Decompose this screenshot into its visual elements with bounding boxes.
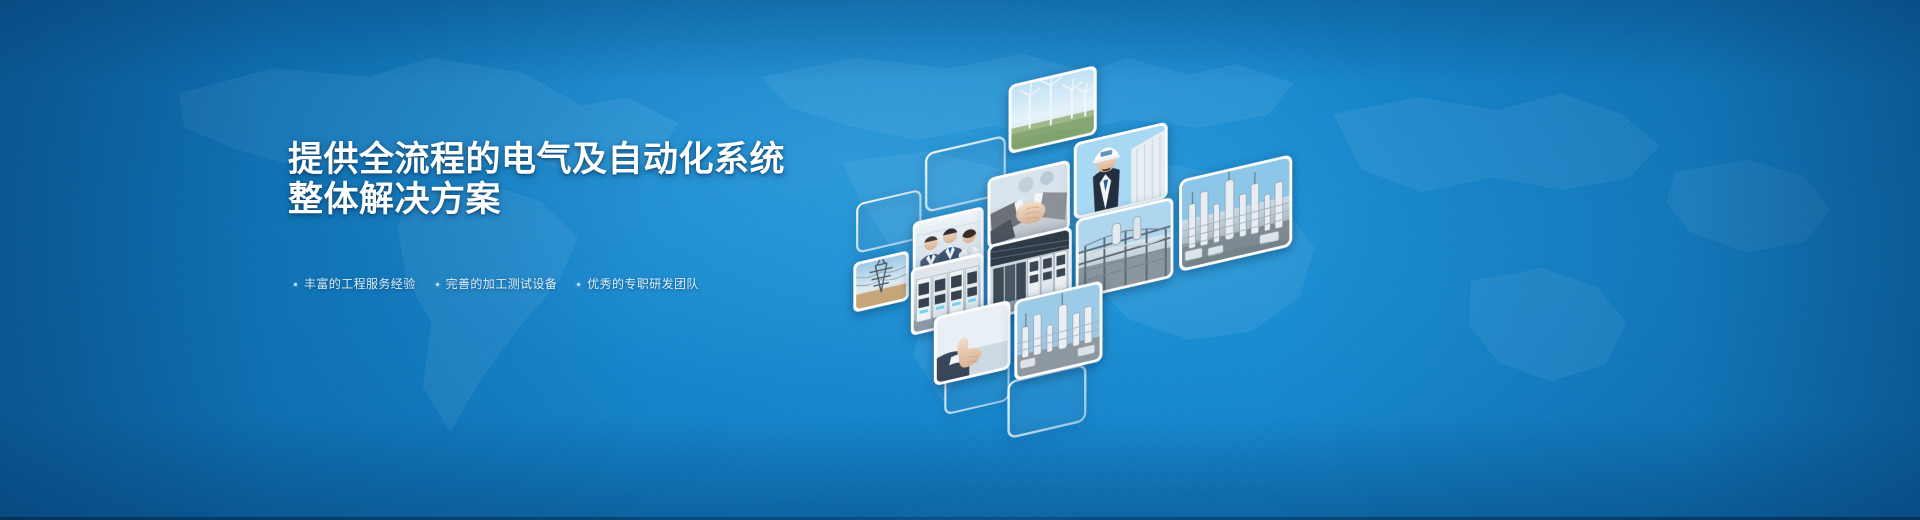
page-title: 提供全流程的电气及自动化系统 整体解决方案 bbox=[288, 140, 908, 220]
feature-bullet-label: 优秀的专职研发团队 bbox=[587, 278, 699, 290]
collage-empty-frame bbox=[857, 190, 920, 253]
feature-bullet-list: 丰富的工程服务经验 完善的加工测试设备 优秀的专职研发团队 bbox=[294, 278, 908, 290]
feature-bullet-item: 丰富的工程服务经验 bbox=[294, 278, 416, 290]
headline-line-1: 提供全流程的电气及自动化系统 bbox=[288, 140, 785, 179]
bullet-dot-icon bbox=[577, 283, 580, 286]
feature-bullet-item: 优秀的专职研发团队 bbox=[577, 278, 699, 290]
feature-bullet-item: 完善的加工测试设备 bbox=[436, 278, 558, 290]
feature-bullet-label: 丰富的工程服务经验 bbox=[304, 278, 416, 290]
headline-line-2: 整体解决方案 bbox=[288, 180, 908, 220]
bullet-dot-icon bbox=[294, 283, 297, 286]
banner-copy: 提供全流程的电气及自动化系统 整体解决方案 丰富的工程服务经验 完善的加工测试设… bbox=[288, 140, 908, 290]
perspective-photo-collage bbox=[838, 10, 1298, 410]
bullet-dot-icon bbox=[436, 283, 439, 286]
collage-tile-power-tower bbox=[853, 250, 909, 313]
collage-tile-refinery bbox=[1179, 154, 1292, 272]
feature-bullet-label: 完善的加工测试设备 bbox=[446, 278, 558, 290]
hero-banner: 提供全流程的电气及自动化系统 整体解决方案 丰富的工程服务经验 完善的加工测试设… bbox=[0, 0, 1920, 520]
